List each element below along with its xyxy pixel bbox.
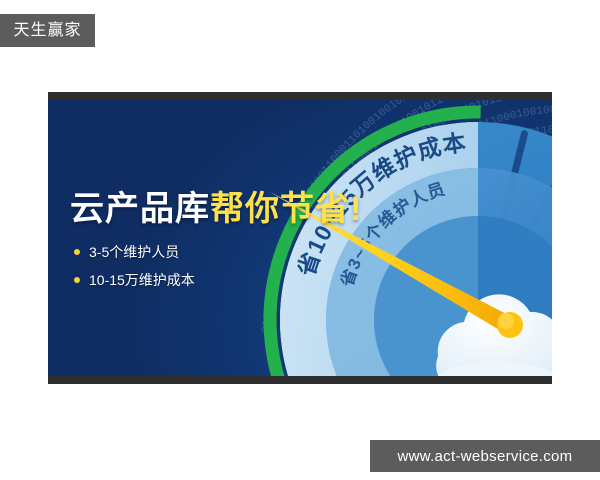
site-badge-label: 天生赢家: [13, 23, 81, 39]
list-item: 3-5个维护人员: [74, 240, 195, 264]
bullet-label: 10-15万维护成本: [89, 273, 195, 287]
banner-letterbox-bottom: [48, 376, 552, 384]
savings-gauge: 省10~15万维护成本 省3~5个维护人员: [252, 94, 552, 384]
headline-highlight: 帮你节省!: [210, 190, 362, 228]
bullet-dot-icon: [74, 249, 80, 255]
site-badge: 天生赢家: [0, 14, 95, 47]
banner-letterbox-top: [48, 92, 552, 100]
list-item: 10-15万维护成本: [74, 268, 195, 292]
watermark: www.act-webservice.com: [370, 440, 600, 472]
watermark-label: www.act-webservice.com: [398, 449, 573, 464]
bullet-label: 3-5个维护人员: [89, 245, 179, 259]
banner-headline: 云产品库帮你节省!: [70, 192, 362, 226]
banner-bullet-list: 3-5个维护人员 10-15万维护成本: [74, 240, 195, 296]
promo-banner[interactable]: 0110010011000101100100010011000110100100…: [48, 92, 552, 384]
headline-primary: 云产品库: [70, 190, 210, 228]
bullet-dot-icon: [74, 277, 80, 283]
